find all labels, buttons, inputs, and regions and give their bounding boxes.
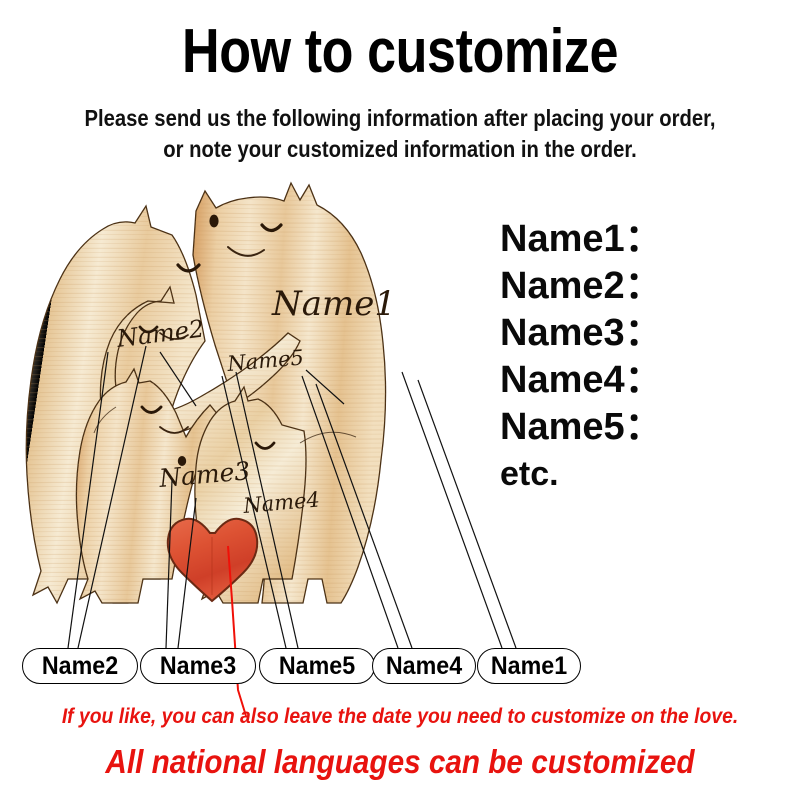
callout-label-name3: Name3 <box>160 653 236 679</box>
bear1-nose-icon <box>209 215 218 228</box>
name-list-item-5: Name5： <box>500 404 790 451</box>
callout-label-name4: Name4 <box>386 653 462 679</box>
bear-family-sculpture: Name1 Name2 Name5 Name3 Name4 <box>0 175 470 650</box>
callout-label-name1: Name1 <box>491 653 567 679</box>
how-to-customize-page: How to customize Please send us the foll… <box>0 0 800 800</box>
callout-label-name5: Name5 <box>279 653 355 679</box>
name-list-item-3: Name3： <box>500 310 790 357</box>
languages-tagline: All national languages can be customized <box>40 740 760 784</box>
date-note-text: If you like, you can also leave the date… <box>32 703 768 731</box>
name-list-item-etc: etc. <box>500 451 790 497</box>
engraved-name-name1: Name1 <box>271 284 396 324</box>
subtitle-line-2: or note your customized information in t… <box>48 134 752 165</box>
name-list-item-2: Name2： <box>500 263 790 310</box>
callout-label-row: Name2 Name3 Name5 Name4 Name1 <box>0 648 800 690</box>
callout-label-name2: Name2 <box>42 653 118 679</box>
page-title: How to customize <box>64 18 736 86</box>
callout-box-name3[interactable]: Name3 <box>140 648 256 684</box>
callout-box-name4[interactable]: Name4 <box>372 648 476 684</box>
name-input-list: Name1： Name2： Name3： Name4： Name5： etc. <box>500 216 790 497</box>
name-list-item-4: Name4： <box>500 357 790 404</box>
sculpture-svg: Name1 Name2 Name5 Name3 Name4 <box>0 175 470 650</box>
callout-box-name2[interactable]: Name2 <box>22 648 138 684</box>
callout-box-name1[interactable]: Name1 <box>477 648 581 684</box>
subtitle-line-1: Please send us the following information… <box>48 103 752 134</box>
name-list-item-1: Name1： <box>500 216 790 263</box>
page-subtitle: Please send us the following information… <box>48 103 752 165</box>
callout-box-name5[interactable]: Name5 <box>259 648 375 684</box>
